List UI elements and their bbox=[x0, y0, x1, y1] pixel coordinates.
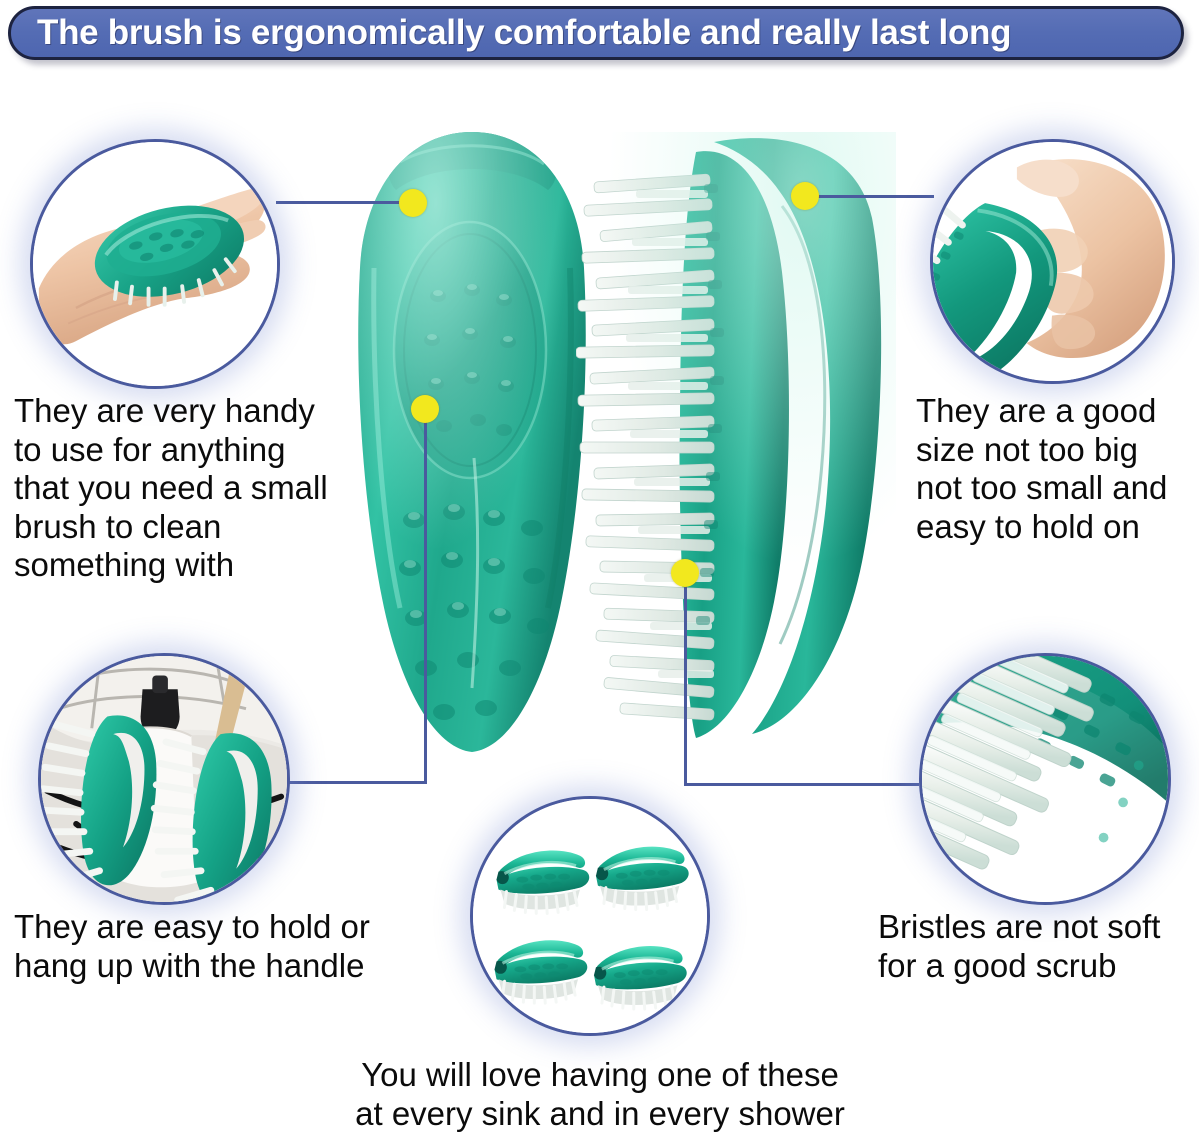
connector-bristles-horizontal bbox=[684, 783, 919, 786]
hotspot-dot-size[interactable] bbox=[791, 182, 819, 210]
callout-image-hang bbox=[38, 653, 290, 905]
connector-size bbox=[812, 195, 934, 198]
connector-hang-horizontal bbox=[288, 781, 427, 784]
callout-image-bristles bbox=[919, 653, 1171, 905]
caption-size: They are a good size not too big not too… bbox=[916, 392, 1188, 546]
page-title: The brush is ergonomically comfortable a… bbox=[37, 13, 1011, 53]
caption-bristles: Bristles are not soft for a good scrub bbox=[878, 908, 1196, 985]
caption-four-pack: You will love having one of these at eve… bbox=[310, 1056, 890, 1133]
caption-hang: They are easy to hold or hang up with th… bbox=[14, 908, 434, 985]
hotspot-dot-bristles[interactable] bbox=[671, 559, 699, 587]
caption-handy: They are very handy to use for anything … bbox=[14, 392, 364, 585]
callout-image-four-pack bbox=[470, 796, 710, 1036]
product-image-brush-top-view bbox=[352, 128, 592, 758]
header-banner: The brush is ergonomically comfortable a… bbox=[8, 6, 1184, 60]
connector-hang-vertical bbox=[424, 408, 427, 784]
callout-image-handy bbox=[30, 139, 280, 389]
hotspot-dot-handy[interactable] bbox=[399, 189, 427, 217]
callout-image-size bbox=[930, 139, 1175, 384]
connector-bristles-vertical bbox=[684, 572, 687, 785]
product-image-brush-side-view bbox=[576, 132, 896, 752]
hotspot-dot-hang[interactable] bbox=[411, 395, 439, 423]
